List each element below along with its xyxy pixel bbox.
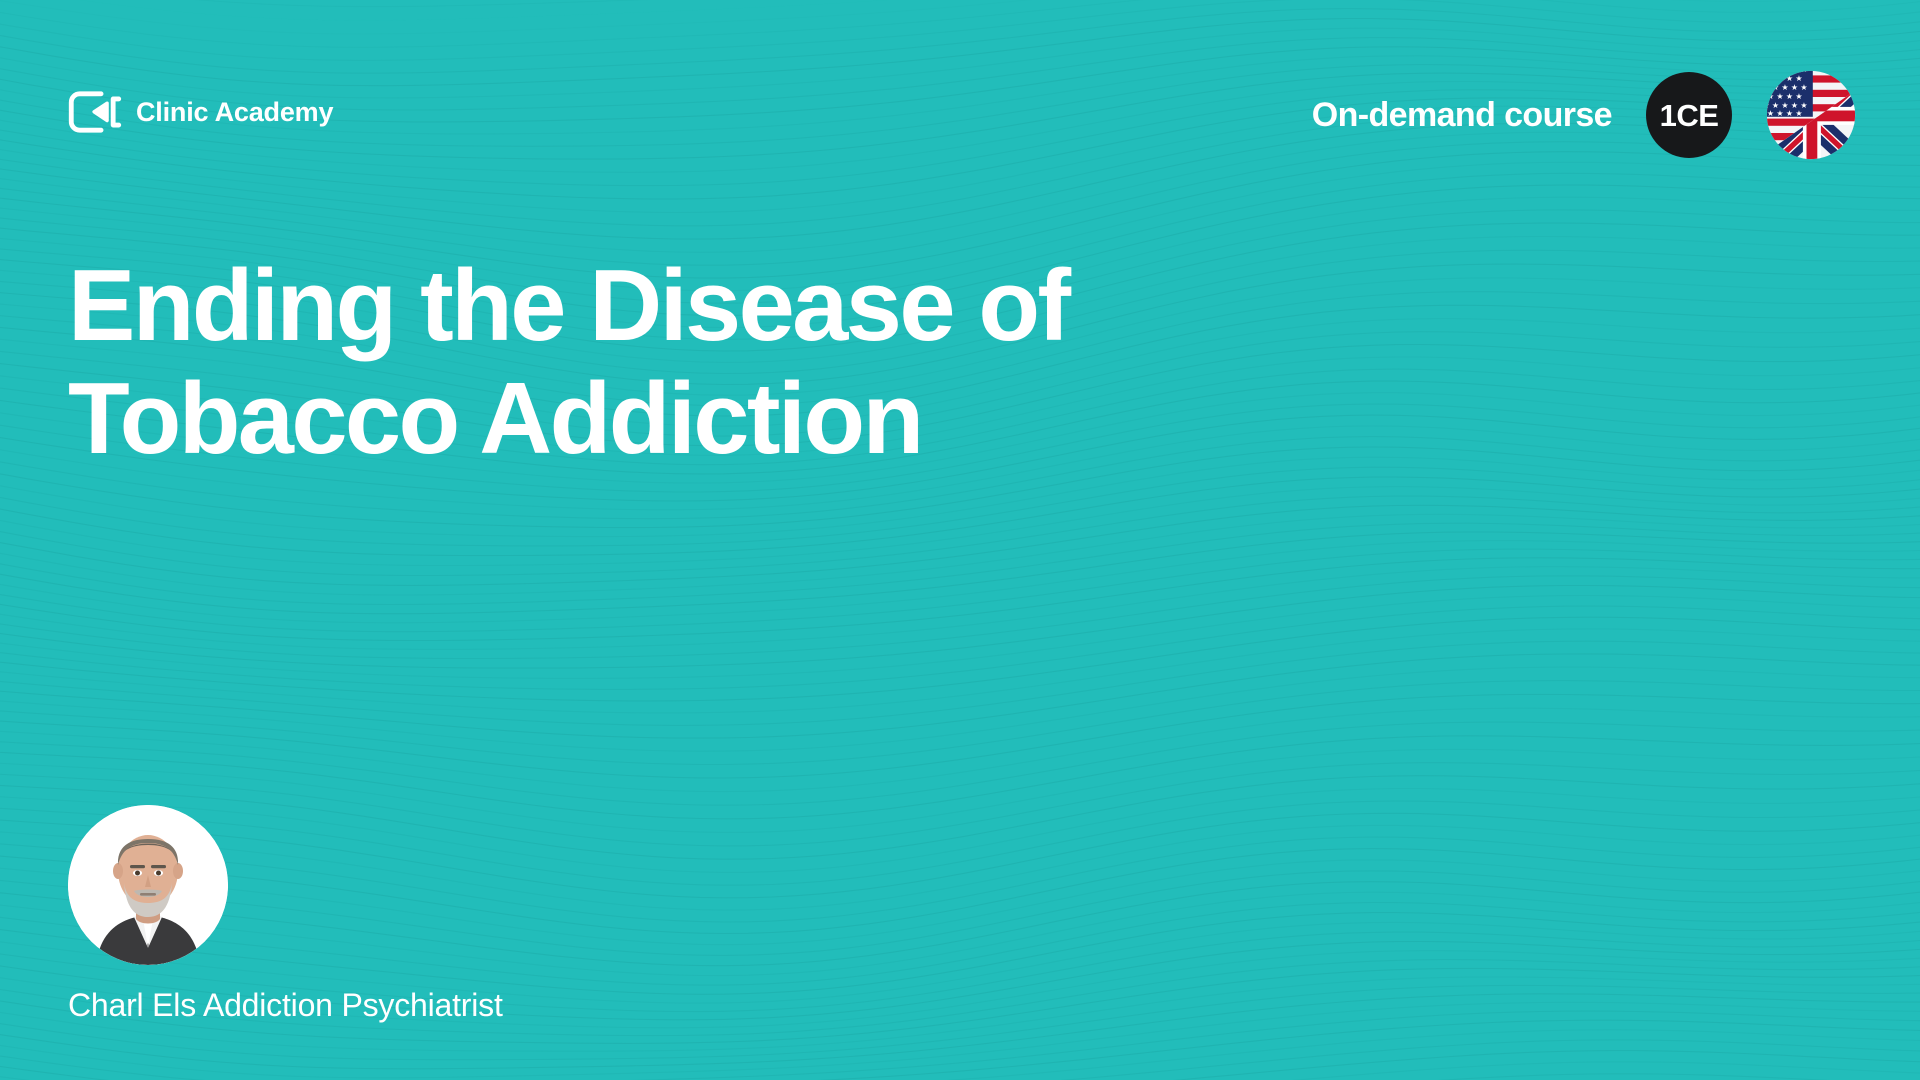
contour-line: [0, 1051, 1920, 1080]
header-right-group: On-demand course 1CE: [1312, 70, 1856, 160]
avatar: [68, 805, 228, 965]
svg-text:★ ★ ★ ★: ★ ★ ★ ★: [1767, 92, 1803, 101]
course-title-block: Ending the Disease of Tobacco Addiction: [68, 250, 1308, 476]
course-title-slide: Clinic Academy On-demand course 1CE: [0, 0, 1920, 1080]
svg-text:★ ★ ★ ★: ★ ★ ★ ★: [1767, 109, 1803, 118]
contour-line: [0, 641, 1920, 725]
contour-line: [0, 514, 1920, 595]
contour-line: [0, 654, 1920, 738]
page-title: Ending the Disease of Tobacco Addiction: [68, 250, 1308, 476]
contour-line: [0, 532, 1920, 614]
course-title-line-1: Ending the Disease of: [68, 250, 1068, 362]
contour-line: [0, 505, 1920, 585]
contour-line: [0, 1074, 1920, 1080]
us-uk-combined-flag-icon: ★ ★ ★ ★ ★ ★ ★ ★ ★ ★ ★ ★ ★ ★ ★ ★ ★ ★ ★ ★ …: [1766, 70, 1856, 160]
contour-line: [0, 1020, 1920, 1080]
contour-line: [0, 558, 1920, 641]
contour-line: [0, 467, 1920, 546]
presenter-credit-label: Charl Els Addiction Psychiatrist: [68, 987, 968, 1024]
contour-line: [0, 596, 1920, 679]
contour-line: [0, 617, 1920, 701]
course-title-line-2: Tobacco Addiction: [68, 363, 922, 475]
contour-line: [0, 496, 1920, 575]
contour-line: [0, 586, 1920, 669]
contour-line: [0, 681, 1920, 765]
contour-line: [0, 708, 1920, 791]
contour-line: [0, 629, 1920, 713]
contour-line: [0, 567, 1920, 650]
contour-line: [0, 1030, 1920, 1080]
brand-name-label: Clinic Academy: [136, 97, 333, 128]
contour-line: [0, 477, 1920, 556]
presenter-headshot: [68, 805, 228, 965]
contour-line: [0, 541, 1920, 623]
contour-line: [0, 576, 1920, 659]
ce-credit-badge: 1CE: [1646, 72, 1732, 158]
clinic-academy-video-logo-icon: [68, 90, 122, 134]
course-kind-label: On-demand course: [1312, 96, 1612, 135]
contour-line: [0, 667, 1920, 751]
brand-lockup[interactable]: Clinic Academy: [68, 90, 333, 134]
ce-credit-badge-label: 1CE: [1660, 100, 1719, 131]
svg-text:★ ★ ★ ★ ★: ★ ★ ★ ★ ★: [1766, 83, 1808, 92]
contour-line: [0, 487, 1920, 566]
contour-line: [0, 523, 1920, 604]
svg-text:★ ★ ★ ★: ★ ★ ★ ★: [1767, 74, 1803, 83]
contour-line: [0, 549, 1920, 632]
presenter-block: Charl Els Addiction Psychiatrist: [68, 805, 968, 1024]
contour-line: [0, 722, 1920, 805]
contour-line: [0, 694, 1920, 778]
contour-line: [0, 606, 1920, 689]
contour-line: [0, 1040, 1920, 1080]
slide-header: Clinic Academy On-demand course 1CE: [0, 0, 1920, 200]
contour-line: [0, 1062, 1920, 1080]
